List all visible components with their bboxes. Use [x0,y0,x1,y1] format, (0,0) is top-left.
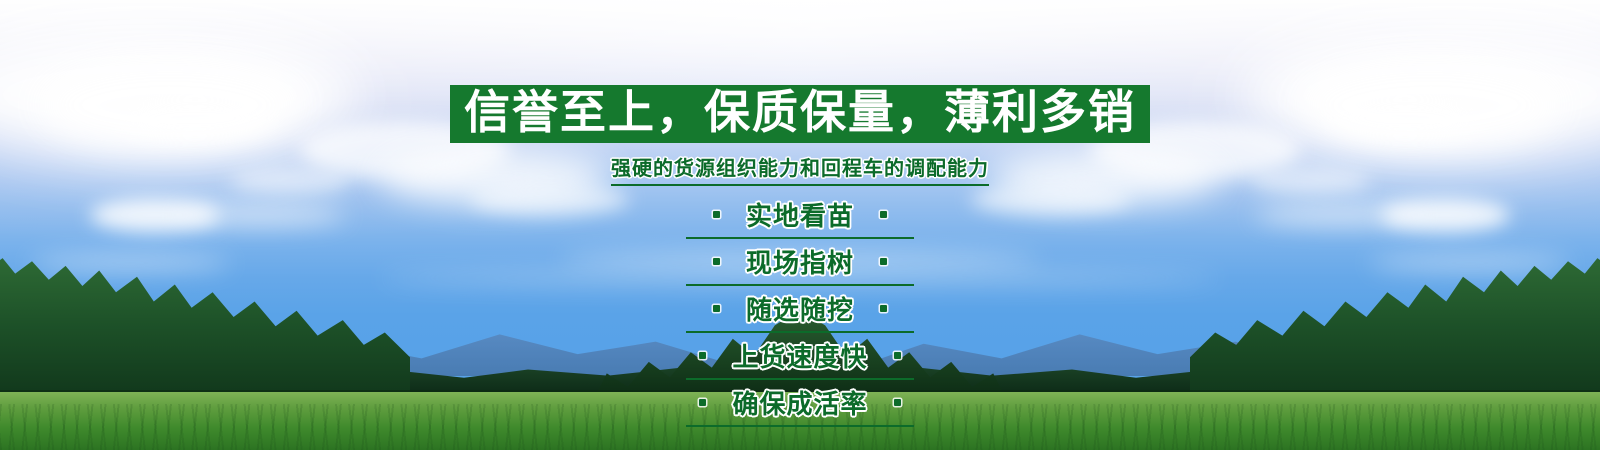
headline-band: 信誉至上，保质保量，薄利多销 [450,85,1150,143]
bullet-dot-icon [713,258,720,265]
feature-item: 上货速度快 [686,337,914,380]
subtitle-text: 强硬的货源组织能力和回程车的调配能力 [611,152,989,186]
promo-banner: 信誉至上，保质保量，薄利多销 强硬的货源组织能力和回程车的调配能力 实地看苗 现… [0,0,1600,450]
feature-label: 现场指树 [746,243,854,280]
feature-item: 随选随挖 [686,290,914,333]
bullet-dot-icon [894,352,901,359]
bullet-dot-icon [713,305,720,312]
text-overlay: 信誉至上，保质保量，薄利多销 强硬的货源组织能力和回程车的调配能力 实地看苗 现… [0,0,1600,450]
headline-text: 信誉至上，保质保量，薄利多销 [464,89,1136,135]
feature-item: 现场指树 [686,243,914,286]
feature-label: 实地看苗 [746,196,854,233]
bullet-dot-icon [880,258,887,265]
bullet-dot-icon [894,399,901,406]
bullet-dot-icon [699,399,706,406]
feature-item: 确保成活率 [686,384,914,427]
bullet-dot-icon [880,211,887,218]
feature-label: 上货速度快 [732,337,867,374]
bullet-dot-icon [880,305,887,312]
feature-label: 确保成活率 [732,384,867,421]
bullet-dot-icon [713,211,720,218]
feature-item: 实地看苗 [686,196,914,239]
feature-list: 实地看苗 现场指树 随选随挖 上货速度快 确保成活率 [686,196,914,431]
bullet-dot-icon [699,352,706,359]
feature-label: 随选随挖 [746,290,854,327]
